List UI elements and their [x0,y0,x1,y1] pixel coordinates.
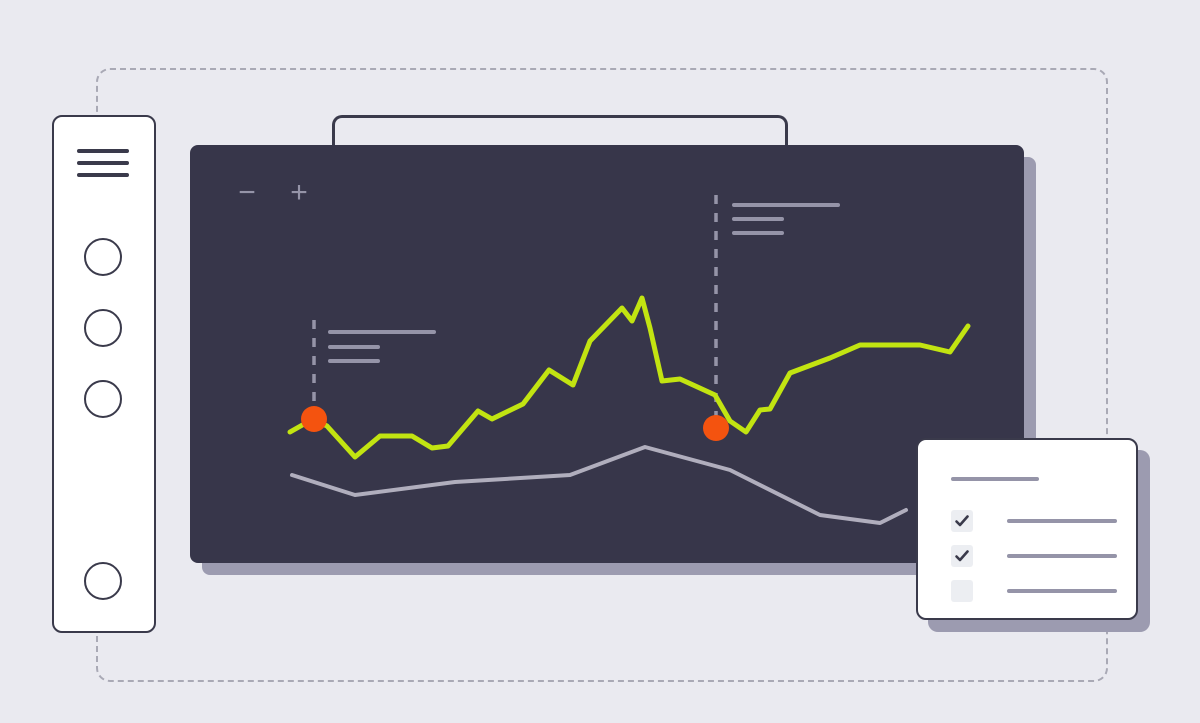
circle-icon[interactable] [84,380,122,418]
annotation-right-text-line [732,217,784,221]
hamburger-line [77,149,129,153]
check-icon [954,548,970,564]
checklist-item-placeholder [1007,554,1117,558]
marker-left[interactable] [301,406,327,432]
circle-icon[interactable] [84,238,122,276]
line-chart [190,145,1024,563]
navigation-sidebar [52,115,156,633]
chart-markers [301,406,729,441]
secondary-series [292,447,906,523]
hamburger-line [77,161,129,165]
circle-icon[interactable] [84,562,122,600]
chart-panel [190,145,1024,563]
plus-icon[interactable]: + [284,178,314,208]
checklist-item-3[interactable] [951,580,1117,602]
checklist-item-2[interactable] [951,545,1117,567]
annotation-left-text-line [328,330,436,334]
checklist-item-1[interactable] [951,510,1117,532]
marker-right[interactable] [703,415,729,441]
checkbox-checked[interactable] [951,545,973,567]
checklist-item-placeholder [1007,589,1117,593]
annotation-left-text-line [328,359,380,363]
illustration-canvas: − + [0,0,1200,723]
annotation-right-text-line [732,203,840,207]
checklist-item-placeholder [1007,519,1117,523]
checkbox-unchecked[interactable] [951,580,973,602]
annotation-left-text-line [328,345,380,349]
minus-icon[interactable]: − [232,178,262,208]
check-icon [954,513,970,529]
checkbox-checked[interactable] [951,510,973,532]
annotation-right-text-line [732,231,784,235]
checklist-title-placeholder [951,477,1039,481]
primary-series [290,298,968,457]
chart-annotations [314,195,840,422]
hamburger-icon[interactable] [77,149,129,177]
hamburger-line [77,173,129,177]
circle-icon[interactable] [84,309,122,347]
checklist-card[interactable] [916,438,1138,620]
